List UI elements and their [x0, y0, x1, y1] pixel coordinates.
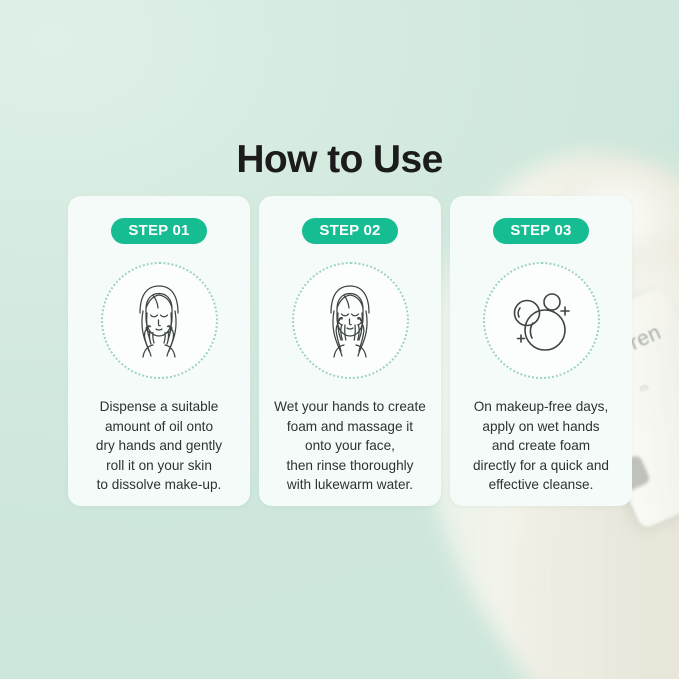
step-icon-circle-3 [483, 262, 600, 379]
step-card-1: STEP 01 [68, 196, 250, 506]
step-badge-3: STEP 03 [493, 218, 588, 244]
step-text-3: On makeup-free days, apply on wet hands … [463, 397, 619, 495]
step-card-3: STEP 03 [450, 196, 632, 506]
step-card-2: STEP 02 [259, 196, 441, 506]
face-oil-massage-icon [113, 275, 205, 367]
step-icon-circle-2 [292, 262, 409, 379]
step-text-2: Wet your hands to create foam and massag… [264, 397, 436, 495]
how-to-use-banner: p.ren m How to Use STEP 01 [0, 0, 679, 679]
step-icon-circle-1 [101, 262, 218, 379]
steps-container: STEP 01 [68, 196, 634, 506]
foam-bubbles-icon [497, 277, 585, 365]
face-foam-massage-icon [304, 275, 396, 367]
page-title: How to Use [0, 138, 679, 182]
step-badge-2: STEP 02 [302, 218, 397, 244]
step-badge-1: STEP 01 [111, 218, 206, 244]
product-secondary-label: m [638, 382, 650, 396]
step-text-1: Dispense a suitable amount of oil onto d… [86, 397, 232, 495]
